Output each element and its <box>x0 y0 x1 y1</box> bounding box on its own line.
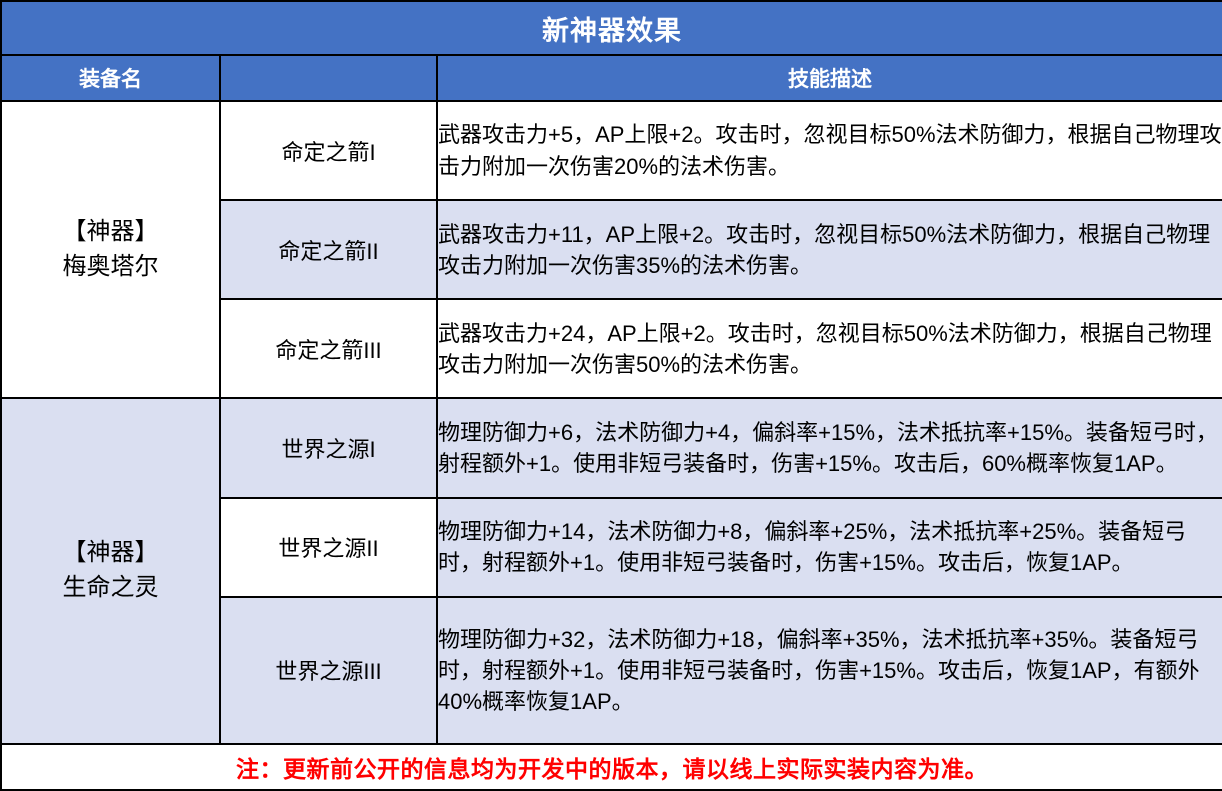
equipment-name-cell-1: 【神器】 生命之灵 <box>1 398 220 744</box>
table-row: 【神器】 生命之灵 世界之源I 物理防御力+6，法术防御力+4，偏斜率+15%，… <box>1 398 1222 497</box>
equipment-name-cell-0: 【神器】 梅奥塔尔 <box>1 101 220 398</box>
description-cell-0-1: 武器攻击力+11，AP上限+2。攻击时，忽视目标50%法术防御力，根据自己物理攻… <box>437 200 1222 299</box>
description-cell-1-0: 物理防御力+6，法术防御力+4，偏斜率+15%，法术抵抗率+15%。装备短弓时，… <box>437 398 1222 497</box>
tier-cell-1-2: 世界之源III <box>220 597 437 744</box>
column-header-tier-blank <box>220 55 437 101</box>
description-cell-1-2: 物理防御力+32，法术防御力+18，偏斜率+35%，法术抵抗率+35%。装备短弓… <box>437 597 1222 744</box>
tier-cell-0-1: 命定之箭II <box>220 200 437 299</box>
description-cell-0-2: 武器攻击力+24，AP上限+2。攻击时，忽视目标50%法术防御力，根据自己物理攻… <box>437 299 1222 398</box>
note-row: 注：更新前公开的信息均为开发中的版本，请以线上实际实装内容为准。 <box>1 744 1222 790</box>
table-row: 【神器】 梅奥塔尔 命定之箭I 武器攻击力+5，AP上限+2。攻击时，忽视目标5… <box>1 101 1222 200</box>
description-cell-0-0: 武器攻击力+5，AP上限+2。攻击时，忽视目标50%法术防御力，根据自己物理攻击… <box>437 101 1222 200</box>
tier-cell-1-0: 世界之源I <box>220 398 437 497</box>
artifact-effects-table: 新神器效果 装备名 技能描述 【神器】 梅奥塔尔 命定之箭I 武器攻击力+5，A… <box>0 0 1222 791</box>
equipment-name-line-2: 梅奥塔尔 <box>2 250 219 285</box>
artifact-effects-sheet: 新神器效果 装备名 技能描述 【神器】 梅奥塔尔 命定之箭I 武器攻击力+5，A… <box>0 0 1222 791</box>
equipment-name-line-1: 【神器】 <box>2 215 219 250</box>
equipment-name-line-1: 【神器】 <box>2 536 219 571</box>
column-header-row: 装备名 技能描述 <box>1 55 1222 101</box>
tier-cell-0-2: 命定之箭III <box>220 299 437 398</box>
column-header-skill-description: 技能描述 <box>437 55 1222 101</box>
title-row: 新神器效果 <box>1 1 1222 55</box>
tier-cell-1-1: 世界之源II <box>220 498 437 597</box>
description-cell-1-1: 物理防御力+14，法术防御力+8，偏斜率+25%，法术抵抗率+25%。装备短弓时… <box>437 498 1222 597</box>
column-header-equipment-name: 装备名 <box>1 55 220 101</box>
table-title: 新神器效果 <box>1 1 1222 55</box>
equipment-name-line-2: 生命之灵 <box>2 571 219 606</box>
disclaimer-note: 注：更新前公开的信息均为开发中的版本，请以线上实际实装内容为准。 <box>1 744 1222 790</box>
tier-cell-0-0: 命定之箭I <box>220 101 437 200</box>
